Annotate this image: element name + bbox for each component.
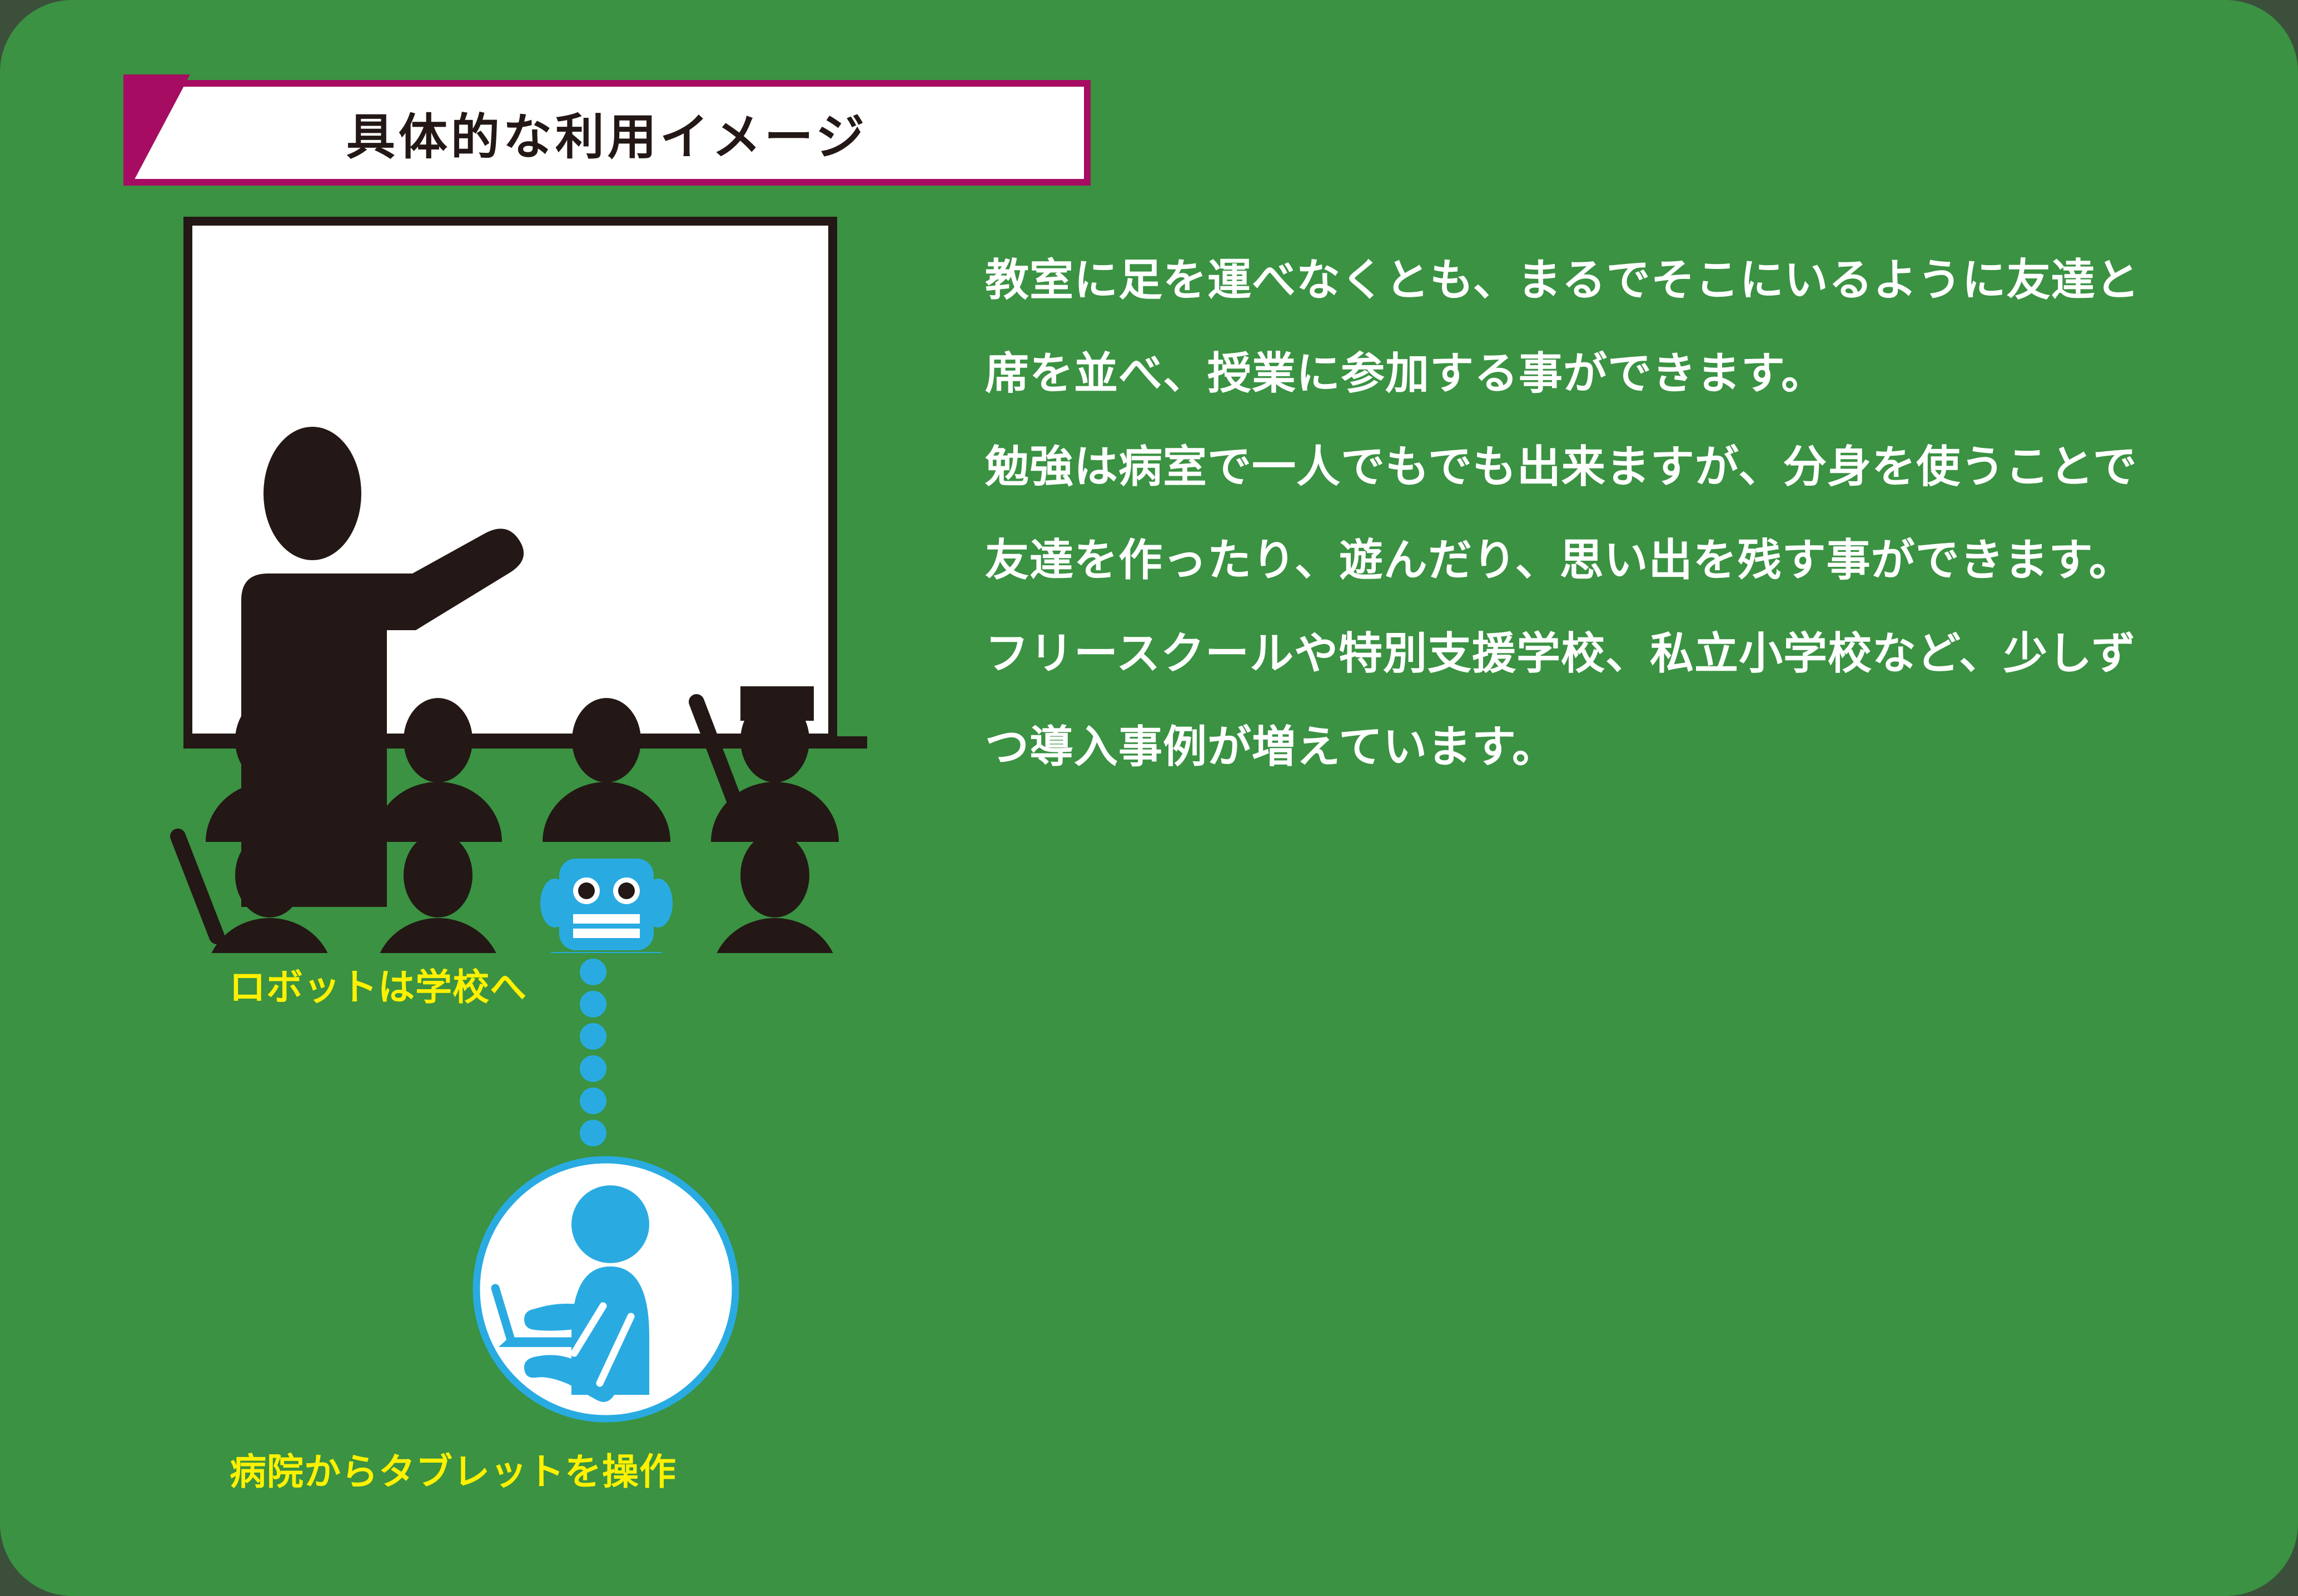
- caption-robot-to-school: ロボットは学校へ: [183, 957, 573, 1011]
- student-silhouette-raised-hand-icon: [178, 833, 334, 953]
- body-line: フリースクールや特別支援学校、私立小学校など、少しず: [985, 607, 2225, 700]
- body-line: 席を並べ、授業に参加する事ができます。: [985, 327, 2225, 420]
- tablet-user-badge: [470, 1153, 742, 1425]
- connector-dot: [580, 1088, 606, 1114]
- slide-card: 具体的な利用イメージ 教室に足を運べなくとも、まるでそこにいるように友達と 席を…: [0, 0, 2298, 1596]
- connector-dot: [580, 1023, 606, 1050]
- body-line: 勉強は病室で一人でもでも出来ますが、分身を使うことで: [985, 420, 2225, 513]
- student-seating-grid: [167, 675, 867, 953]
- body-paragraph: 教室に足を運べなくとも、まるでそこにいるように友達と 席を並べ、授業に参加する事…: [985, 233, 2225, 794]
- connector-dot: [580, 959, 606, 985]
- caption-tablet-from-hospital: 病院からタブレットを操作: [133, 1442, 773, 1495]
- student-silhouette-icon: [374, 833, 502, 953]
- title-banner: 具体的な利用イメージ: [123, 80, 1091, 186]
- title-banner-fill: [130, 87, 1084, 179]
- connector-dot: [580, 1055, 606, 1082]
- dotted-link-icon: [580, 959, 613, 1153]
- student-silhouette-icon: [711, 833, 839, 953]
- telepresence-robot-icon: [540, 859, 673, 953]
- body-line: 教室に足を運べなくとも、まるでそこにいるように友達と: [985, 233, 2225, 327]
- student-silhouette-raised-hand-icon: [697, 698, 839, 842]
- student-silhouette-icon: [374, 698, 502, 842]
- body-line: つ導入事例が増えています。: [985, 700, 2225, 794]
- body-line: 友達を作ったり、遊んだり、思い出を残す事ができます。: [985, 513, 2225, 607]
- student-silhouette-icon: [543, 698, 670, 842]
- connector-dot: [580, 991, 606, 1018]
- person-with-laptop-icon: [470, 1153, 742, 1425]
- connector-dot: [580, 1120, 606, 1146]
- student-silhouette-icon: [206, 698, 334, 842]
